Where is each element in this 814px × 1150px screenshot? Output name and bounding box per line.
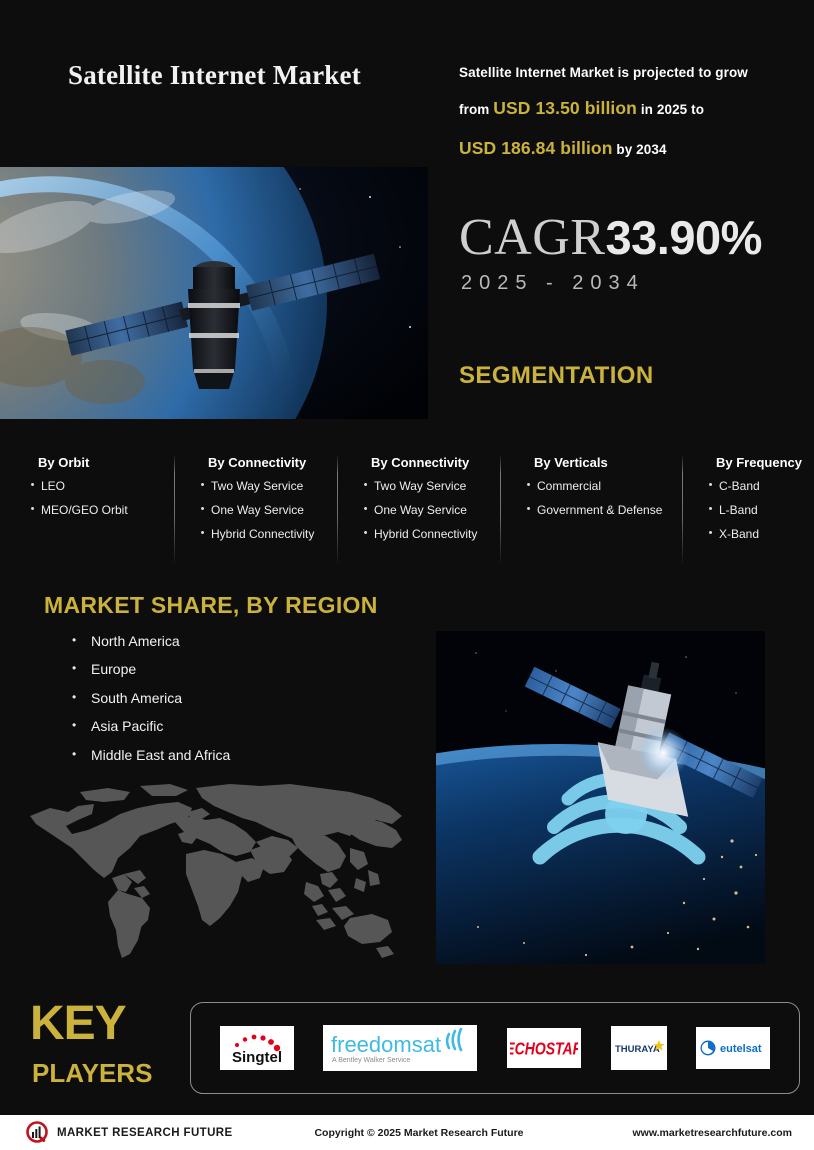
key-players-line2: PLAYERS [32, 1060, 152, 1086]
segment-item-label: Commercial [537, 480, 601, 492]
growth-from: from [459, 102, 489, 117]
svg-text:A Bentley Walker Service: A Bentley Walker Service [332, 1057, 410, 1064]
segment-item: •Hybrid Connectivity [357, 528, 492, 540]
bullet-icon: • [72, 662, 91, 675]
satellite-signal-illustration [436, 631, 765, 964]
footer-copyright: Copyright © 2025 Market Research Future [296, 1127, 542, 1139]
satellite-earth-illustration [0, 167, 428, 419]
bullet-icon: • [357, 528, 374, 539]
segment-item-label: One Way Service [374, 504, 467, 516]
cagr-years: 2025 - 2034 [461, 272, 645, 295]
segment-item: •C-Band [702, 480, 788, 492]
footer-brand[interactable]: MARKET RESEARCH FUTURE [26, 1121, 296, 1145]
segment-column-connectivity-1: By Connectivity •Two Way Service •One Wa… [174, 455, 337, 565]
svg-text:ECHOSTAR: ECHOSTAR [510, 1040, 578, 1059]
value-2034: USD 186.84 billion [459, 138, 613, 158]
segment-item: •MEO/GEO Orbit [24, 504, 166, 516]
region-label: Asia Pacific [91, 719, 163, 734]
bullet-icon: • [702, 504, 719, 515]
segmentation-columns: By Orbit •LEO •MEO/GEO Orbit By Connecti… [24, 455, 796, 565]
cagr-block: CAGR33.90% [459, 208, 762, 267]
segment-item-label: L-Band [719, 504, 758, 516]
segment-column-connectivity-2: By Connectivity •Two Way Service •One Wa… [337, 455, 500, 565]
region-label: Middle East and Africa [91, 748, 230, 763]
satellite-earth-image [0, 167, 428, 419]
bullet-icon: • [72, 634, 91, 647]
svg-text:freedomsat: freedomsat [331, 1032, 441, 1057]
infographic-page: Satellite Internet Market Satellite Inte… [0, 0, 814, 1150]
segmentation-title: SEGMENTATION [459, 362, 654, 390]
region-item: •Middle East and Africa [72, 748, 230, 763]
bullet-icon: • [702, 528, 719, 539]
bullet-icon: • [194, 504, 211, 515]
segment-item-label: Two Way Service [211, 480, 303, 492]
segment-item: •One Way Service [357, 504, 492, 516]
bullet-icon: • [72, 691, 91, 704]
bullet-icon: • [24, 504, 41, 515]
bullet-icon: • [24, 480, 41, 491]
segment-heading: By Verticals [534, 455, 674, 470]
segment-column-frequency: By Frequency •C-Band •L-Band •X-Band [682, 455, 796, 565]
bullet-icon: • [72, 748, 91, 761]
segment-item: •X-Band [702, 528, 788, 540]
segment-item: •Government & Defense [520, 504, 674, 516]
footer: MARKET RESEARCH FUTURE Copyright © 2025 … [0, 1115, 814, 1150]
market-research-future-logo-icon [26, 1121, 50, 1145]
segment-item-label: Government & Defense [537, 504, 662, 516]
segment-item-label: X-Band [719, 528, 759, 540]
segment-heading: By Orbit [38, 455, 166, 470]
svg-text:Singtel: Singtel [232, 1049, 282, 1066]
segment-item: •L-Band [702, 504, 788, 516]
segment-item-label: LEO [41, 480, 65, 492]
region-item: •South America [72, 691, 230, 706]
cagr-value: 33.90% [605, 211, 761, 264]
page-title: Satellite Internet Market [68, 56, 408, 95]
segment-item-label: MEO/GEO Orbit [41, 504, 128, 516]
bullet-icon: • [702, 480, 719, 491]
bullet-icon: • [357, 480, 374, 491]
segment-item-label: Two Way Service [374, 480, 466, 492]
segment-item-label: C-Band [719, 480, 760, 492]
market-share-title: MARKET SHARE, BY REGION [44, 592, 378, 619]
value-2025: USD 13.50 billion [493, 98, 637, 118]
key-players-line1: KEY [30, 1000, 126, 1048]
segment-heading: By Frequency [716, 455, 788, 470]
thuraya-logo-mark: THURAYA [612, 1036, 666, 1060]
segment-column-verticals: By Verticals •Commercial •Government & D… [500, 455, 682, 565]
region-label: Europe [91, 662, 136, 677]
satellite-signal-image [436, 631, 765, 964]
region-item: •Europe [72, 662, 230, 677]
footer-brand-text: MARKET RESEARCH FUTURE [57, 1127, 233, 1139]
segment-item: •Hybrid Connectivity [194, 528, 329, 540]
segment-item-label: One Way Service [211, 504, 304, 516]
region-label: North America [91, 634, 180, 649]
singtel-logo[interactable]: Singtel [220, 1026, 294, 1070]
svg-text:THURAYA: THURAYA [615, 1044, 660, 1055]
bullet-icon: • [520, 504, 537, 515]
bullet-icon: • [357, 504, 374, 515]
region-label: South America [91, 691, 182, 706]
segment-item: •Two Way Service [194, 480, 329, 492]
bullet-icon: • [520, 480, 537, 491]
freedomsat-logo-mark: freedomsat A Bentley Walker Service [327, 1028, 473, 1068]
bullet-icon: • [194, 480, 211, 491]
segment-item: •Two Way Service [357, 480, 492, 492]
thuraya-logo[interactable]: THURAYA [611, 1026, 667, 1070]
growth-statement: Satellite Internet Market is projected t… [459, 58, 789, 169]
growth-suffix: by 2034 [616, 142, 666, 157]
segment-item-label: Hybrid Connectivity [374, 528, 477, 540]
footer-url[interactable]: www.marketresearchfuture.com [542, 1127, 792, 1139]
region-item: •Asia Pacific [72, 719, 230, 734]
region-item: •North America [72, 634, 230, 649]
growth-mid: in 2025 to [641, 102, 704, 117]
segment-column-orbit: By Orbit •LEO •MEO/GEO Orbit [24, 455, 174, 565]
world-map-silhouette [20, 778, 420, 963]
segment-heading: By Connectivity [371, 455, 492, 470]
segment-item: •Commercial [520, 480, 674, 492]
svg-text:eutelsat: eutelsat [720, 1043, 762, 1055]
segment-item: •One Way Service [194, 504, 329, 516]
bullet-icon: • [194, 528, 211, 539]
key-players-logo-box: Singtel freedomsat A Bentley Walker Serv… [190, 1002, 800, 1094]
market-share-region-list: •North America •Europe •South America •A… [72, 634, 230, 776]
echostar-logo-mark: ECHOSTAR [510, 1037, 578, 1059]
growth-line1: Satellite Internet Market is projected t… [459, 65, 748, 80]
eutelsat-logo-mark: eutelsat [699, 1038, 767, 1058]
cagr-label: CAGR [459, 209, 605, 266]
bullet-icon: • [72, 719, 91, 732]
segment-item: •LEO [24, 480, 166, 492]
eutelsat-logo[interactable]: eutelsat [696, 1027, 770, 1069]
freedomsat-logo[interactable]: freedomsat A Bentley Walker Service [323, 1025, 477, 1071]
segment-heading: By Connectivity [208, 455, 329, 470]
world-map [20, 778, 420, 963]
segment-item-label: Hybrid Connectivity [211, 528, 314, 540]
echostar-logo[interactable]: ECHOSTAR [507, 1028, 581, 1068]
singtel-logo-mark: Singtel [224, 1029, 290, 1067]
